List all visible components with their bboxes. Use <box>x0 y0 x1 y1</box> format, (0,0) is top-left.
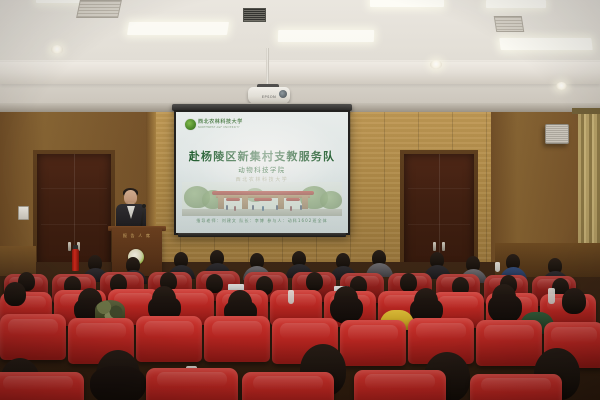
led-panel-light <box>278 30 374 42</box>
podium-nameplate: 报 告 人 席 <box>116 233 158 238</box>
auditorium-seat <box>146 368 238 400</box>
slide-subtitle: 动物科技学院 <box>176 164 348 174</box>
water-bottle <box>288 290 294 304</box>
water-bottle <box>495 262 500 272</box>
presentation-slide: 西北农林科技大学 NORTHWEST A&F UNIVERSITY 赴杨陵区新集… <box>176 112 348 233</box>
air-vent-grille <box>494 16 525 32</box>
wall-speaker-icon <box>545 124 569 144</box>
auditorium-seat <box>476 320 542 366</box>
slide-campus-gate-photo <box>182 182 342 216</box>
led-panel-light <box>127 22 229 35</box>
lecture-hall-photo: EPSON 西北农林科技大学 NORTHWEST A <box>0 0 600 400</box>
light-switch-icon[interactable] <box>18 206 29 220</box>
slide-title: 赴杨陵区新集村支教服务队 <box>176 148 348 164</box>
auditorium-seat <box>136 316 202 362</box>
logo-english-name: NORTHWEST A&F UNIVERSITY <box>198 126 243 129</box>
university-logo-icon <box>185 119 196 130</box>
curtain-rail <box>572 108 600 114</box>
audience-head <box>306 272 323 291</box>
ceiling-downlight <box>51 45 63 54</box>
auditorium-seat <box>242 372 334 400</box>
auditorium-seat <box>470 374 562 400</box>
led-panel-light <box>370 0 444 7</box>
ceiling-downlight <box>556 82 567 90</box>
audience-head <box>562 288 586 314</box>
auditorium-seat <box>354 370 446 400</box>
audience-head <box>400 273 417 292</box>
slide-footer-credits: 指导老师：刘建文 队长：李博 参与人：动科1602班全体 <box>176 218 348 224</box>
audience-long-hair <box>90 366 146 400</box>
auditorium-seat <box>0 372 84 400</box>
left-counter <box>0 246 36 276</box>
auditorium-seat <box>0 314 66 360</box>
water-bottle <box>548 288 555 304</box>
audience-head <box>4 282 26 306</box>
ceiling <box>0 0 600 105</box>
audience-cap <box>95 300 125 320</box>
auditorium-seat <box>204 316 270 362</box>
logo-chinese-name: 西北农林科技大学 <box>198 120 243 125</box>
microphone-head <box>142 204 146 208</box>
air-vent-grille <box>243 8 266 22</box>
projector-mount-rod <box>266 48 269 88</box>
projection-screen-weight-bar <box>178 233 346 237</box>
auditorium-seat <box>340 320 406 366</box>
air-vent-grille <box>76 0 122 18</box>
fire-extinguisher-icon <box>72 249 79 271</box>
projector-lens <box>279 90 287 98</box>
led-panel-light <box>486 0 546 8</box>
ceiling-soffit <box>0 62 600 84</box>
slide-university-logo: 西北农林科技大学 NORTHWEST A&F UNIVERSITY <box>185 119 243 130</box>
ceiling-downlight <box>430 60 442 69</box>
door-right[interactable] <box>404 154 474 268</box>
led-panel-light <box>499 38 592 50</box>
